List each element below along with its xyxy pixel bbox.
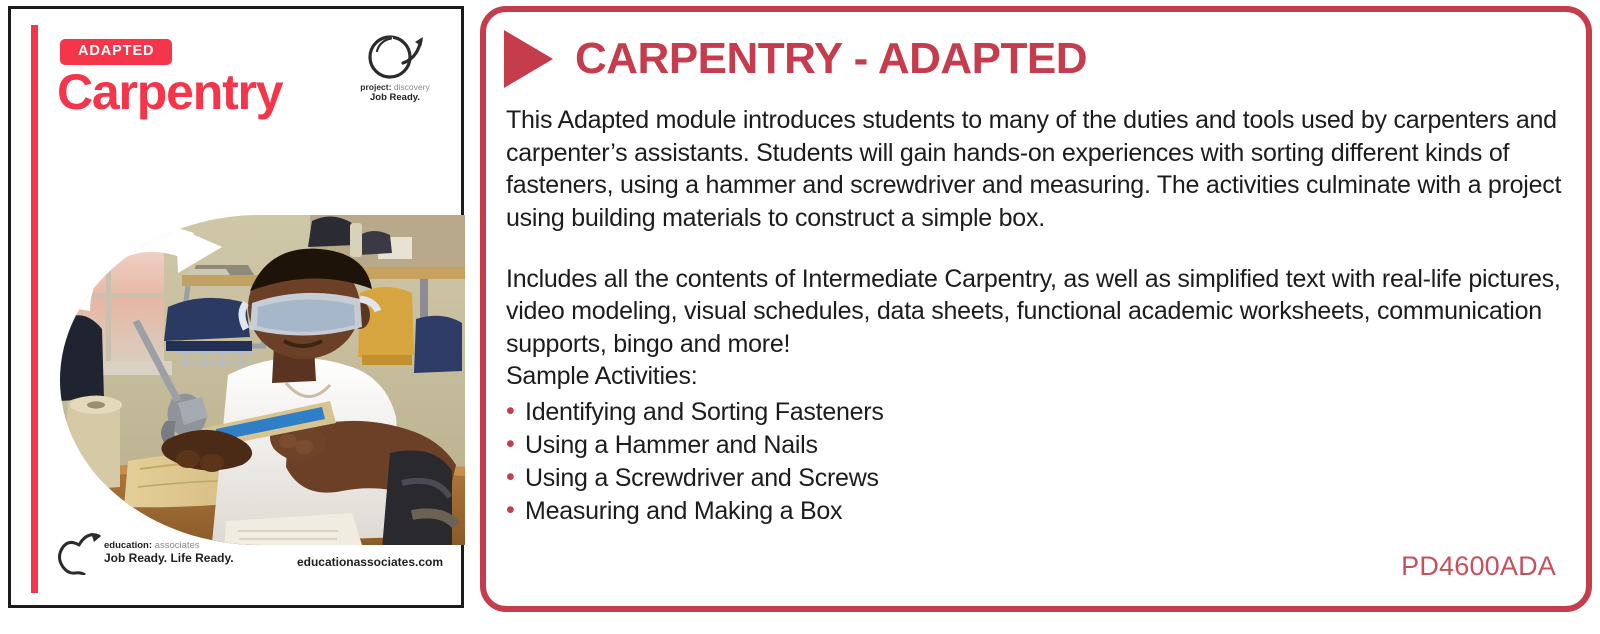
sample-activities-label: Sample Activities: [506,360,1572,393]
cover-footer: education: associates Job Ready. Life Re… [57,533,443,575]
ea-tagline-top: education: associates [104,540,234,551]
cover-accent-bar [31,25,38,593]
cover-title: Carpentry [57,67,282,117]
ea-tagline-light: associates [155,540,200,551]
project-discovery-logo: project: discovery Job Ready. [349,27,441,104]
list-item: Identifying and Sorting Fasteners [506,396,1572,429]
description-content: CARPENTRY - ADAPTED This Adapted module … [498,26,1572,596]
brand-tagline-light: discovery [394,82,430,92]
adapted-badge: ADAPTED [60,39,172,65]
description-paragraph-2: Includes all the contents of Intermediat… [506,263,1572,361]
apple-arrow-icon [57,533,101,575]
cover-content: ADAPTED Carpentry project: discovery Job… [51,25,453,597]
product-description-panel: CARPENTRY - ADAPTED This Adapted module … [480,6,1592,612]
website-url: educationassociates.com [297,555,443,569]
page-title: CARPENTRY - ADAPTED [575,37,1087,81]
classroom-carpentry-photo [60,215,465,545]
list-item: Using a Hammer and Nails [506,429,1572,462]
description-paragraph-1: This Adapted module introduces students … [506,104,1572,235]
product-listing-page: ADAPTED Carpentry project: discovery Job… [0,0,1600,634]
brand-tagline-bold: project: [360,82,391,92]
circle-arrow-icon [359,27,431,81]
description-text: This Adapted module introduces students … [506,104,1572,529]
product-cover-card: ADAPTED Carpentry project: discovery Job… [8,6,464,608]
sample-activities-list: Identifying and Sorting Fasteners Using … [506,396,1572,529]
list-item: Using a Screwdriver and Screws [506,462,1572,495]
cover-photo [60,215,465,545]
description-header: CARPENTRY - ADAPTED [504,26,1572,92]
brand-tagline-bottom: Job Ready. [349,93,441,104]
play-triangle-icon [504,30,553,88]
ea-tagline-bottom: Job Ready. Life Ready. [104,551,234,566]
list-item: Measuring and Making a Box [506,495,1572,528]
product-code: PD4600ADA [1401,551,1556,582]
education-associates-logo: education: associates Job Ready. Life Re… [57,533,234,575]
ea-tagline-bold: education: [104,540,152,551]
